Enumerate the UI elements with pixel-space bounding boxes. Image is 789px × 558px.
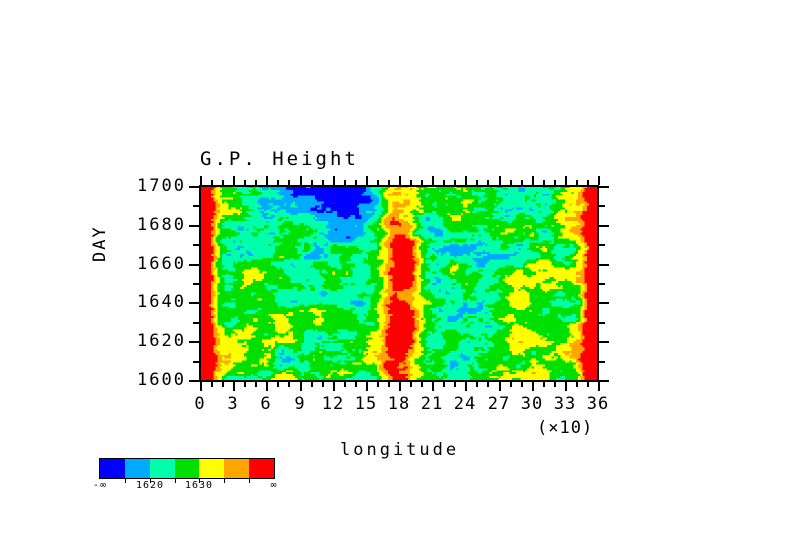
x-minor-tick-top: [311, 180, 313, 185]
y-major-tick-right: [599, 380, 609, 382]
x-major-tick: [432, 382, 434, 391]
heatmap-plot-area: [200, 186, 598, 380]
x-major-tick: [233, 382, 235, 391]
x-major-tick-top: [499, 176, 501, 185]
x-minor-tick-top: [487, 180, 489, 185]
y-major-tick: [189, 186, 199, 188]
x-tick-label: 36: [573, 394, 623, 414]
x-minor-tick: [476, 382, 478, 387]
y-major-tick: [189, 264, 199, 266]
x-minor-tick-top: [222, 180, 224, 185]
x-minor-tick: [587, 382, 589, 387]
x-major-tick-top: [233, 176, 235, 185]
colorbar-swatch: [224, 459, 249, 478]
y-minor-tick-right: [599, 322, 605, 324]
x-major-tick: [366, 382, 368, 391]
x-minor-tick: [487, 382, 489, 387]
x-minor-tick: [454, 382, 456, 387]
colorbar-swatch: [175, 459, 200, 478]
colorbar-label: -∞: [75, 480, 125, 491]
colorbar: [100, 459, 274, 478]
x-major-tick: [565, 382, 567, 391]
y-axis-title: DAY: [90, 225, 110, 262]
colorbar-label: 1630: [174, 480, 224, 491]
x-major-tick: [598, 382, 600, 391]
y-major-tick-right: [599, 341, 609, 343]
x-minor-tick-top: [576, 180, 578, 185]
y-tick-label: 1620: [104, 331, 186, 351]
x-major-tick-top: [266, 176, 268, 185]
x-axis-multiplier-note: (×10): [537, 418, 593, 438]
x-minor-tick: [443, 382, 445, 387]
x-minor-tick-top: [410, 180, 412, 185]
x-minor-tick-top: [255, 180, 257, 185]
colorbar-label: ∞: [249, 480, 299, 491]
colorbar-swatch: [125, 459, 150, 478]
colorbar-swatches: [100, 459, 274, 478]
x-axis-title: longitude: [340, 440, 459, 460]
colorbar-swatch: [249, 459, 274, 478]
y-tick-label: 1640: [104, 292, 186, 312]
x-minor-tick: [344, 382, 346, 387]
y-minor-tick: [193, 244, 199, 246]
colorbar-swatch: [100, 459, 125, 478]
x-major-tick-top: [565, 176, 567, 185]
y-tick-label: 1700: [104, 176, 186, 196]
x-minor-tick-top: [476, 180, 478, 185]
y-minor-tick: [193, 205, 199, 207]
y-major-tick: [189, 225, 199, 227]
x-minor-tick-top: [443, 180, 445, 185]
x-minor-tick: [388, 382, 390, 387]
x-major-tick-top: [366, 176, 368, 185]
x-minor-tick-top: [244, 180, 246, 185]
x-minor-tick-top: [211, 180, 213, 185]
x-minor-tick-top: [388, 180, 390, 185]
x-minor-tick: [355, 382, 357, 387]
x-major-tick-top: [532, 176, 534, 185]
axis-line-left: [199, 185, 201, 382]
x-major-tick: [300, 382, 302, 391]
y-minor-tick: [193, 322, 199, 324]
x-major-tick: [333, 382, 335, 391]
y-tick-label: 1600: [104, 370, 186, 390]
colorbar-swatch: [199, 459, 224, 478]
y-major-tick-right: [599, 302, 609, 304]
x-minor-tick-top: [322, 180, 324, 185]
y-minor-tick-right: [599, 283, 605, 285]
x-major-tick: [532, 382, 534, 391]
x-major-tick: [266, 382, 268, 391]
x-minor-tick: [322, 382, 324, 387]
x-major-tick-top: [300, 176, 302, 185]
x-minor-tick: [311, 382, 313, 387]
x-minor-tick: [377, 382, 379, 387]
x-major-tick-top: [333, 176, 335, 185]
y-minor-tick-right: [599, 205, 605, 207]
x-minor-tick: [543, 382, 545, 387]
y-minor-tick: [193, 283, 199, 285]
x-minor-tick: [410, 382, 412, 387]
y-tick-label: 1680: [104, 215, 186, 235]
x-minor-tick: [510, 382, 512, 387]
y-major-tick: [189, 341, 199, 343]
y-major-tick: [189, 302, 199, 304]
x-minor-tick-top: [543, 180, 545, 185]
x-minor-tick-top: [344, 180, 346, 185]
y-major-tick-right: [599, 225, 609, 227]
x-minor-tick: [421, 382, 423, 387]
x-minor-tick: [554, 382, 556, 387]
colorbar-swatch: [150, 459, 175, 478]
y-major-tick-right: [599, 186, 609, 188]
x-minor-tick-top: [288, 180, 290, 185]
y-major-tick: [189, 380, 199, 382]
x-minor-tick: [255, 382, 257, 387]
x-major-tick-top: [399, 176, 401, 185]
x-minor-tick-top: [377, 180, 379, 185]
x-minor-tick: [244, 382, 246, 387]
y-minor-tick-right: [599, 361, 605, 363]
x-minor-tick: [288, 382, 290, 387]
x-minor-tick-top: [454, 180, 456, 185]
x-major-tick: [399, 382, 401, 391]
y-minor-tick-right: [599, 244, 605, 246]
page-title: G.P. Height: [200, 148, 359, 170]
x-major-tick-top: [465, 176, 467, 185]
x-minor-tick: [222, 382, 224, 387]
x-minor-tick: [277, 382, 279, 387]
x-minor-tick: [521, 382, 523, 387]
x-minor-tick-top: [587, 180, 589, 185]
x-major-tick: [465, 382, 467, 391]
heatmap-image: [200, 186, 598, 380]
x-major-tick-top: [432, 176, 434, 185]
x-major-tick: [499, 382, 501, 391]
x-minor-tick-top: [521, 180, 523, 185]
x-minor-tick-top: [421, 180, 423, 185]
x-minor-tick-top: [355, 180, 357, 185]
x-minor-tick-top: [510, 180, 512, 185]
axis-line-top: [200, 185, 599, 187]
y-major-tick-right: [599, 264, 609, 266]
x-minor-tick-top: [277, 180, 279, 185]
x-minor-tick-top: [554, 180, 556, 185]
x-minor-tick: [211, 382, 213, 387]
x-minor-tick: [576, 382, 578, 387]
colorbar-tick: [224, 478, 225, 483]
figure-canvas: G.P. Height 170016801660164016201600 036…: [0, 0, 789, 558]
x-major-tick-top: [598, 176, 600, 185]
x-major-tick: [200, 382, 202, 391]
colorbar-label: 1620: [125, 480, 175, 491]
y-tick-label: 1660: [104, 254, 186, 274]
x-major-tick-top: [200, 176, 202, 185]
y-minor-tick: [193, 361, 199, 363]
